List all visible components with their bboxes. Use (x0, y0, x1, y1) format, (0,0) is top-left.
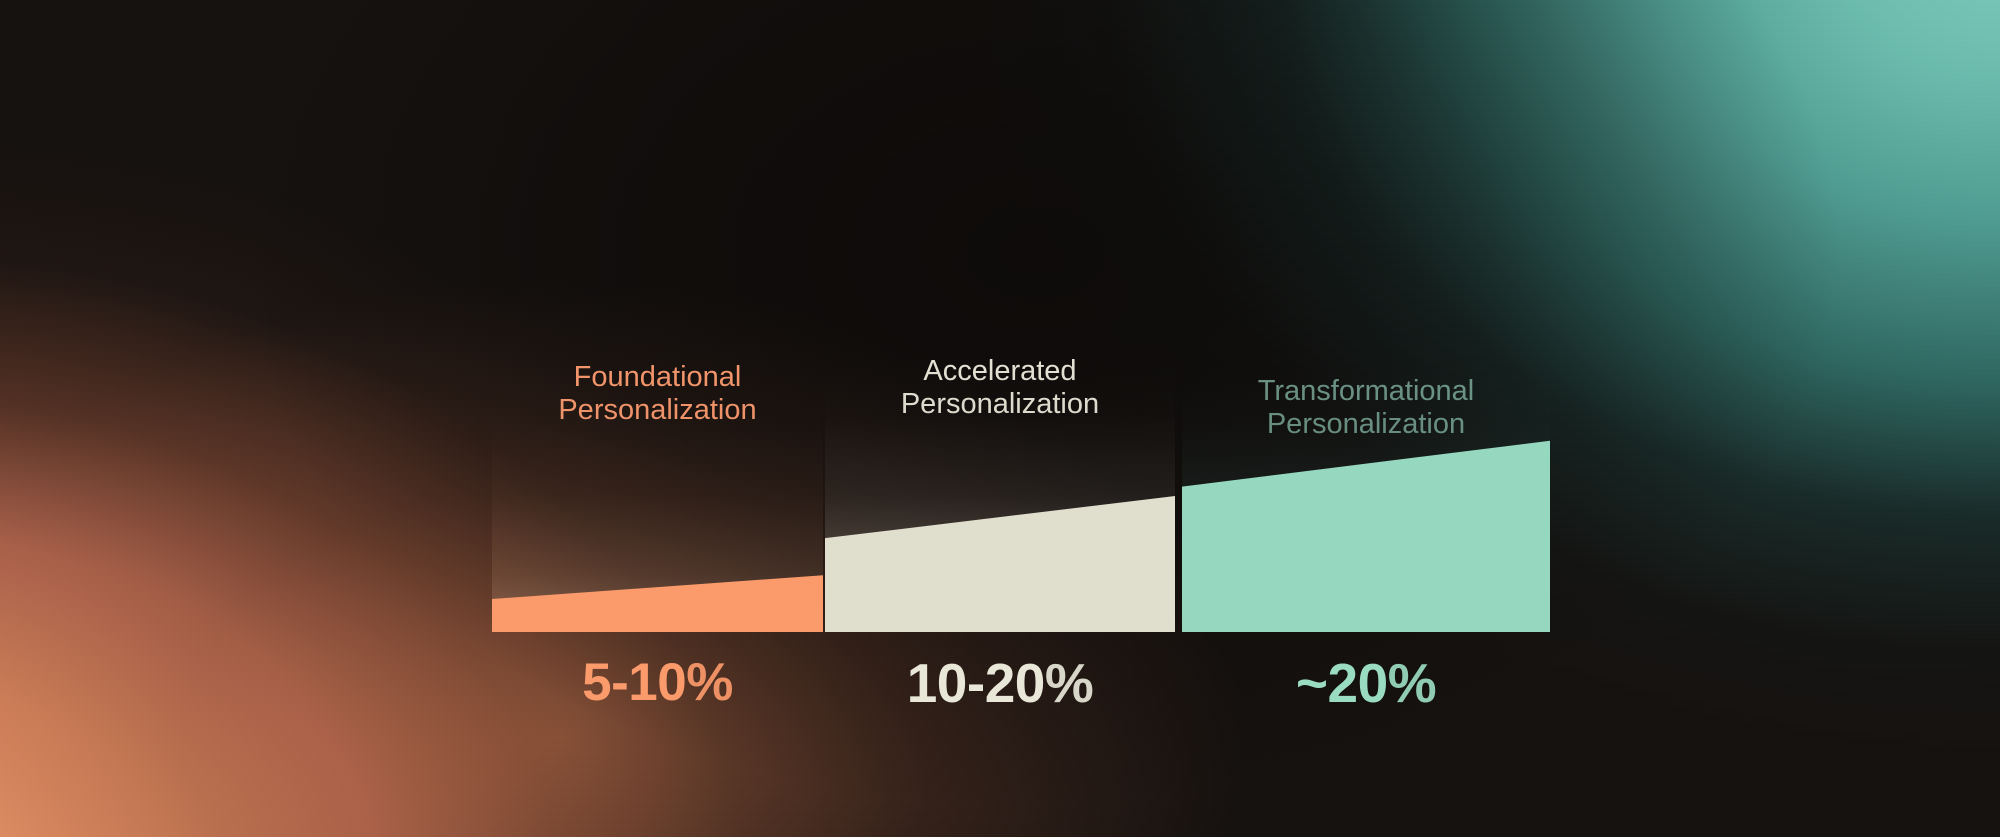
column-value-transformational: ~20% (1182, 656, 1550, 711)
value-number: 10-20 (907, 652, 1045, 714)
personalization-uplift-chart: Foundational Personalization 5-10% Accel… (492, 368, 1550, 632)
chart-column-accelerated[interactable]: Accelerated Personalization 10-20% (825, 360, 1175, 632)
percent-sign: % (1045, 652, 1093, 714)
percent-sign: % (1388, 652, 1436, 714)
percent-sign: % (686, 653, 733, 712)
bar-wedge-foundational (492, 368, 823, 632)
value-number: ~20 (1296, 652, 1388, 714)
chart-column-transformational[interactable]: Transformational Personalization ~20% (1182, 370, 1550, 632)
column-body-accelerated (825, 360, 1175, 632)
column-value-foundational: 5-10% (492, 656, 823, 709)
infographic-canvas: Foundational Personalization 5-10% Accel… (0, 0, 2000, 837)
column-value-accelerated: 10-20% (825, 656, 1175, 711)
bar-wedge-transformational (1182, 370, 1550, 632)
value-number: 5-10 (582, 653, 686, 712)
column-body-foundational (492, 368, 823, 632)
bar-wedge-accelerated (825, 360, 1175, 632)
column-body-transformational (1182, 370, 1550, 632)
chart-column-foundational[interactable]: Foundational Personalization 5-10% (492, 368, 823, 632)
